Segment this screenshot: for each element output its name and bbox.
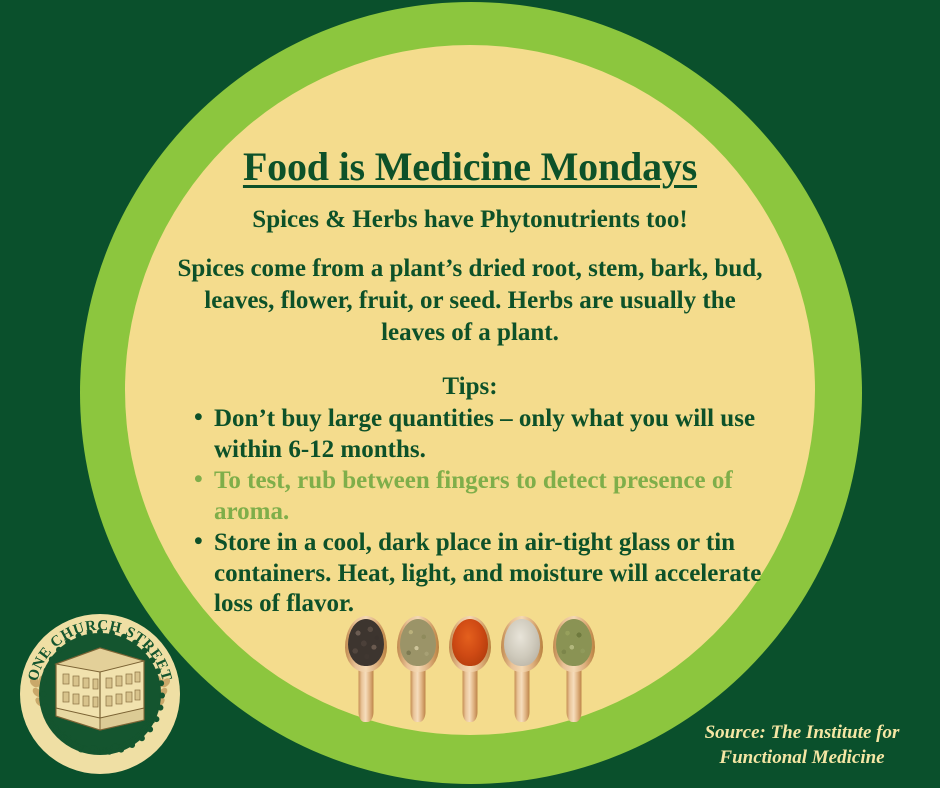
spice-spoons-image (344, 616, 596, 722)
spoon-dried-herbs (552, 616, 596, 722)
tips-list: Don’t buy large quantities – only what y… (150, 404, 790, 620)
source-credit: Source: The Institute for Functional Med… (680, 720, 924, 770)
poster-canvas: Food is Medicine Mondays Spices & Herbs … (0, 0, 940, 788)
spoon-bowl (501, 616, 543, 672)
spoon-bowl (449, 616, 491, 672)
spoon-paprika (448, 616, 492, 722)
spoon-black-peppercorns (344, 616, 388, 722)
list-item: To test, rub between fingers to detect p… (194, 466, 776, 527)
tips-heading: Tips: (150, 373, 790, 401)
spice-pile (556, 619, 592, 666)
poster-content: Food is Medicine Mondays Spices & Herbs … (150, 146, 790, 621)
intro-paragraph: Spices come from a plant’s dried root, s… (150, 253, 790, 349)
spoon-bowl (345, 616, 387, 672)
spoon-white-pepper (500, 616, 544, 722)
building-icon (56, 648, 144, 730)
list-item: Don’t buy large quantities – only what y… (194, 404, 776, 465)
spoon-bowl (397, 616, 439, 672)
logo-badge: ONE CHURCH STREET Nourishing Our Communi… (14, 608, 186, 780)
spice-pile (504, 619, 540, 666)
subtitle: Spices & Herbs have Phytonutrients too! (150, 206, 790, 234)
spice-pile (400, 619, 436, 666)
spoon-dried-oregano (396, 616, 440, 722)
list-item: Store in a cool, dark place in air-tight… (194, 528, 776, 620)
page-title: Food is Medicine Mondays (150, 146, 790, 188)
spice-pile (452, 619, 488, 666)
logo-svg: ONE CHURCH STREET Nourishing Our Communi… (14, 608, 186, 780)
spoon-bowl (553, 616, 595, 672)
spice-pile (348, 619, 384, 666)
